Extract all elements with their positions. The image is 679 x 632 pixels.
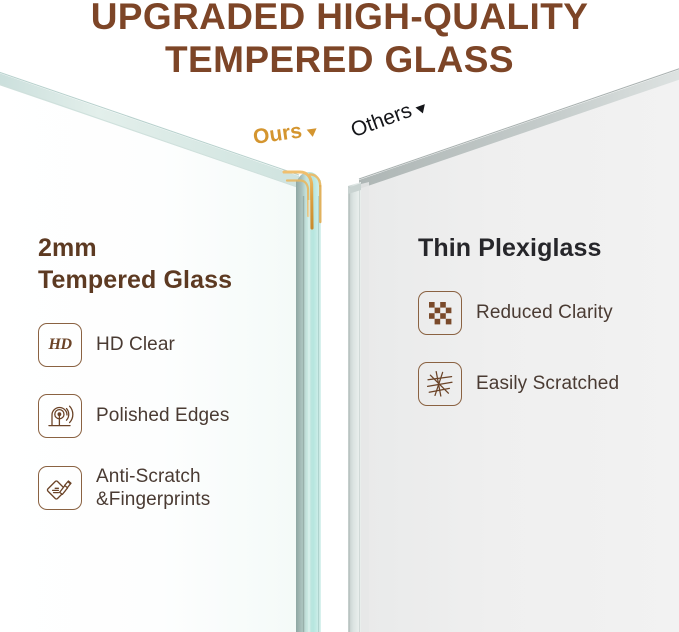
feature-label: Anti-Scratch &Fingerprints (96, 465, 210, 511)
others-title-line-1: Thin Plexiglass (418, 232, 668, 264)
others-feature-column: Thin Plexiglass (418, 232, 668, 433)
feature-label: Polished Edges (96, 404, 229, 427)
feature-label-line-1: Polished Edges (96, 404, 229, 427)
scratch-lines-icon (418, 362, 462, 406)
list-item: Polished Edges (38, 394, 288, 438)
feature-label: Reduced Clarity (476, 301, 613, 324)
list-item: HD HD Clear (38, 323, 288, 367)
page-title: UPGRADED HIGH-QUALITY TEMPERED GLASS (0, 0, 679, 82)
feature-label: HD Clear (96, 333, 175, 356)
ours-feature-column: 2mm Tempered Glass HD HD Clear (38, 232, 288, 538)
triangle-down-icon (307, 128, 318, 137)
ours-feature-list: HD HD Clear (38, 323, 288, 511)
feature-label-line-1: HD Clear (96, 333, 175, 356)
headline-line-1: UPGRADED HIGH-QUALITY (0, 0, 679, 39)
ours-title-line-2: Tempered Glass (38, 264, 288, 296)
polishing-wheel-icon (38, 394, 82, 438)
list-item: Anti-Scratch &Fingerprints (38, 465, 288, 511)
feature-label-line-1: Easily Scratched (476, 372, 619, 395)
feature-label-line-2: &Fingerprints (96, 488, 210, 511)
hd-icon-text: HD (49, 336, 72, 354)
product-comparison-infographic: UPGRADED HIGH-QUALITY TEMPERED GLASS Our… (0, 0, 679, 632)
ours-title-line-1: 2mm (38, 232, 288, 264)
list-item: Reduced Clarity (418, 291, 668, 335)
hd-icon: HD (38, 323, 82, 367)
others-column-title: Thin Plexiglass (418, 232, 668, 264)
triangle-down-icon (415, 104, 427, 115)
anti-scratch-fingerprint-icon (38, 466, 82, 510)
feature-label-line-1: Reduced Clarity (476, 301, 613, 324)
list-item: Easily Scratched (418, 362, 668, 406)
others-feature-list: Reduced Clarity Easily Scratched (418, 291, 668, 406)
checkerboard-blur-icon (418, 291, 462, 335)
feature-label: Easily Scratched (476, 372, 619, 395)
ours-column-title: 2mm Tempered Glass (38, 232, 288, 296)
headline-line-2: TEMPERED GLASS (0, 39, 679, 82)
feature-label-line-1: Anti-Scratch (96, 465, 210, 488)
